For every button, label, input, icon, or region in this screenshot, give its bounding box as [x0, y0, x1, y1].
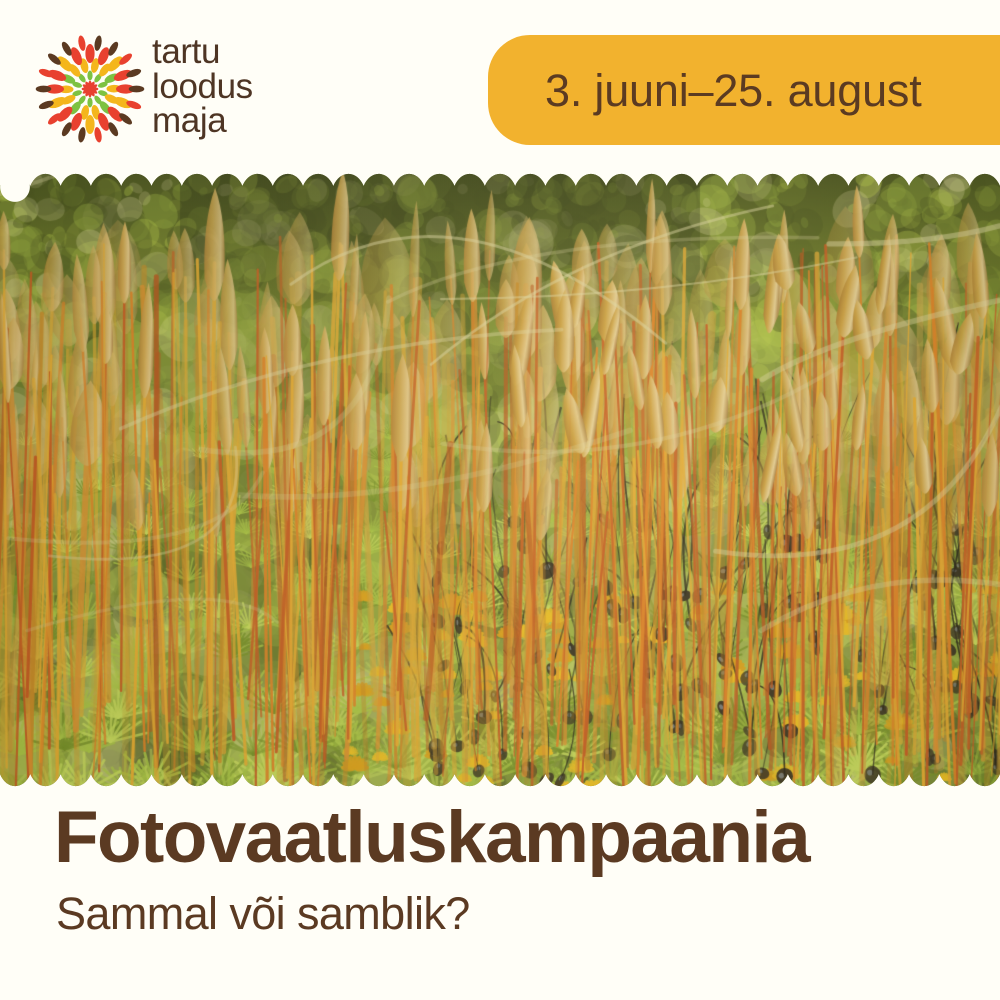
header-bar: tartu loodus maja 3. juuni–25. august — [0, 0, 1000, 178]
moss-photo-canvas — [0, 172, 1000, 788]
poster-canvas: tartu loodus maja 3. juuni–25. august Fo… — [0, 0, 1000, 1000]
brand-logo[interactable]: tartu loodus maja — [34, 33, 304, 143]
flower-logo-icon — [34, 33, 146, 145]
page-subtitle: Sammal või samblik? — [56, 891, 470, 936]
moss-photo — [0, 172, 1000, 788]
date-range-badge: 3. juuni–25. august — [488, 35, 1000, 145]
photo-scallop-clip — [0, 172, 1000, 788]
photo-section — [0, 172, 1000, 788]
brand-line-1: tartu — [152, 35, 312, 70]
brand-line-2: loodus — [152, 70, 312, 105]
date-range-label: 3. juuni–25. august — [545, 68, 922, 113]
page-title: Fotovaatluskampaania — [54, 801, 809, 874]
brand-line-3: maja — [152, 104, 312, 139]
brand-wordmark: tartu loodus maja — [152, 35, 312, 139]
